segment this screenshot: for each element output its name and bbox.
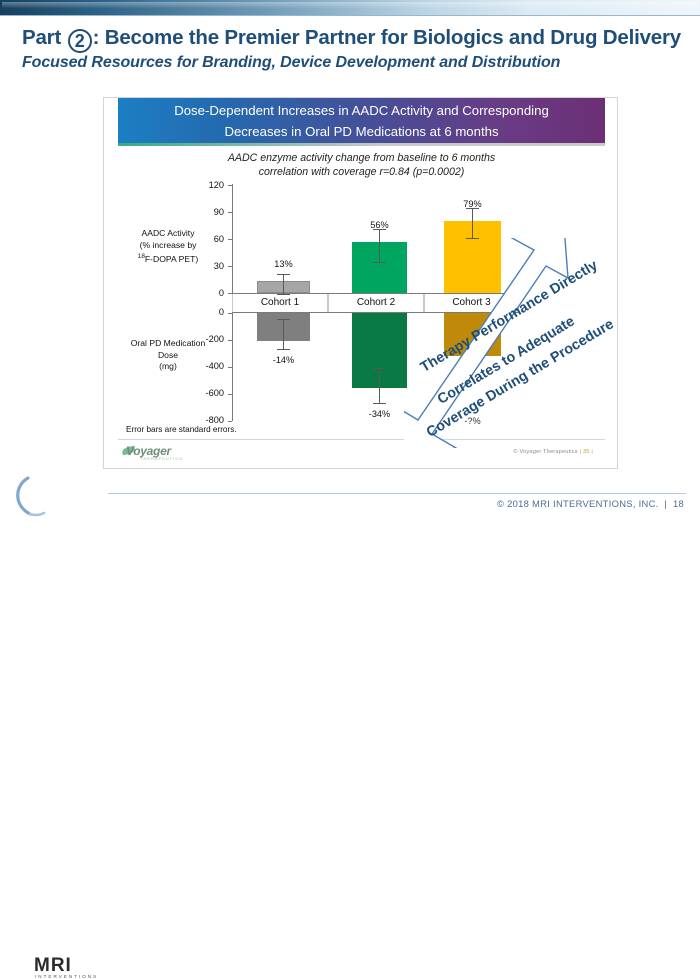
ytick-bottom-0: 0 xyxy=(190,307,224,317)
chart-credit: © Voyager Therapeutics | 35 | xyxy=(513,449,593,455)
ytick-top-4: 0 xyxy=(190,288,224,298)
ytick-top-0: 120 xyxy=(190,180,224,190)
ytick-bottom-3: -600 xyxy=(190,388,224,398)
chart-page-number: | 35 | xyxy=(580,449,593,455)
top-decorative-bar xyxy=(0,0,700,16)
footer-divider xyxy=(108,493,686,494)
mri-logo-subtext: INTERVENTIONS xyxy=(35,974,98,979)
axis-title-b-line2: Dose xyxy=(116,350,220,362)
errorbar-cap-bottom-cohort-2-high xyxy=(373,368,386,369)
errorbar-cap-bottom-cohort-2-low xyxy=(373,403,386,404)
chart-credit-text: © Voyager Therapeutics xyxy=(513,449,577,455)
bar-label-top-cohort-1: 13% xyxy=(257,259,310,269)
page-title: Part 2: Become the Premier Partner for B… xyxy=(22,26,681,53)
mri-swoosh-icon xyxy=(10,474,102,518)
ytick-bottom-1: -200 xyxy=(190,334,224,344)
top-bar-highlight xyxy=(2,2,698,13)
error-bar-note: Error bars are standard errors. xyxy=(126,425,237,434)
errorbar-bottom-cohort-1 xyxy=(283,319,284,349)
errorbar-cap-top-cohort-1-high xyxy=(277,274,290,275)
footer-copyright-text: © 2018 MRI INTERVENTIONS, INC. xyxy=(497,498,659,509)
title-rest-label: : Become the Premier Partner for Biologi… xyxy=(93,26,681,49)
part-prefix-label: Part xyxy=(22,26,61,49)
errorbar-top-cohort-2 xyxy=(379,229,380,262)
footer-separator: | xyxy=(664,498,667,509)
bar-label-bottom-cohort-2: -34% xyxy=(352,409,407,419)
page-subtitle: Focused Resources for Branding, Device D… xyxy=(22,54,560,72)
errorbar-top-cohort-1 xyxy=(283,274,284,294)
bar-label-top-cohort-2: 56% xyxy=(352,220,407,230)
ytick-top-3: 30 xyxy=(190,261,224,271)
bar-label-top-cohort-3: 79% xyxy=(444,199,501,209)
callout-arrow: Therapy Performance Directly Correlates … xyxy=(404,238,634,448)
ytick-top-1: 90 xyxy=(190,207,224,217)
mri-interventions-logo: MRI INTERVENTIONS xyxy=(10,474,102,518)
ytick-top-2: 60 xyxy=(190,234,224,244)
footer-page-number: 18 xyxy=(673,498,684,509)
yaxis-line-top xyxy=(232,184,233,293)
errorbar-cap-bottom-cohort-1-high xyxy=(277,319,290,320)
yaxis-line-bottom xyxy=(232,312,233,421)
errorbar-cap-top-cohort-2-low xyxy=(373,262,386,263)
voyager-logo-subtext: THERAPEUTICS xyxy=(140,456,183,461)
errorbar-bottom-cohort-2 xyxy=(379,368,380,403)
axis-title-superscript: 18 xyxy=(138,253,145,260)
ytick-bottom-4: -800 xyxy=(190,415,224,425)
bar-label-bottom-cohort-1: -14% xyxy=(257,355,310,365)
part-number-badge: 2 xyxy=(68,29,92,53)
errorbar-cap-bottom-cohort-1-low xyxy=(277,349,290,350)
ytick-bottom-2: -400 xyxy=(190,361,224,371)
category-label-cohort-1: Cohort 1 xyxy=(232,294,328,312)
footer-copyright: © 2018 MRI INTERVENTIONS, INC. | 18 xyxy=(497,498,684,509)
errorbar-top-cohort-3 xyxy=(472,208,473,238)
